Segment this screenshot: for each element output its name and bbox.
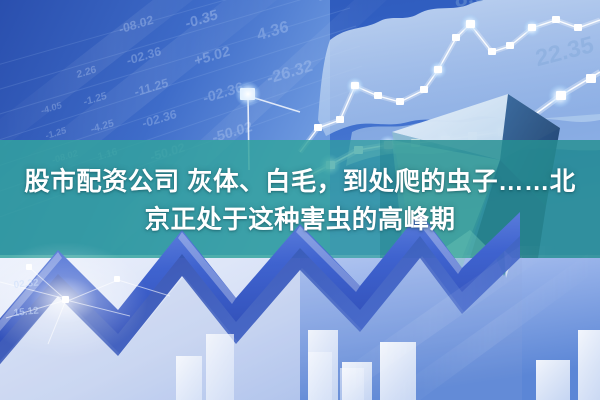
banner-image: -4.05 -1.25 -08.02 -6.03 2.26 -1.25 -4.2… (0, 0, 600, 400)
background-artwork: -4.05 -1.25 -08.02 -6.03 2.26 -1.25 -4.2… (0, 0, 600, 400)
